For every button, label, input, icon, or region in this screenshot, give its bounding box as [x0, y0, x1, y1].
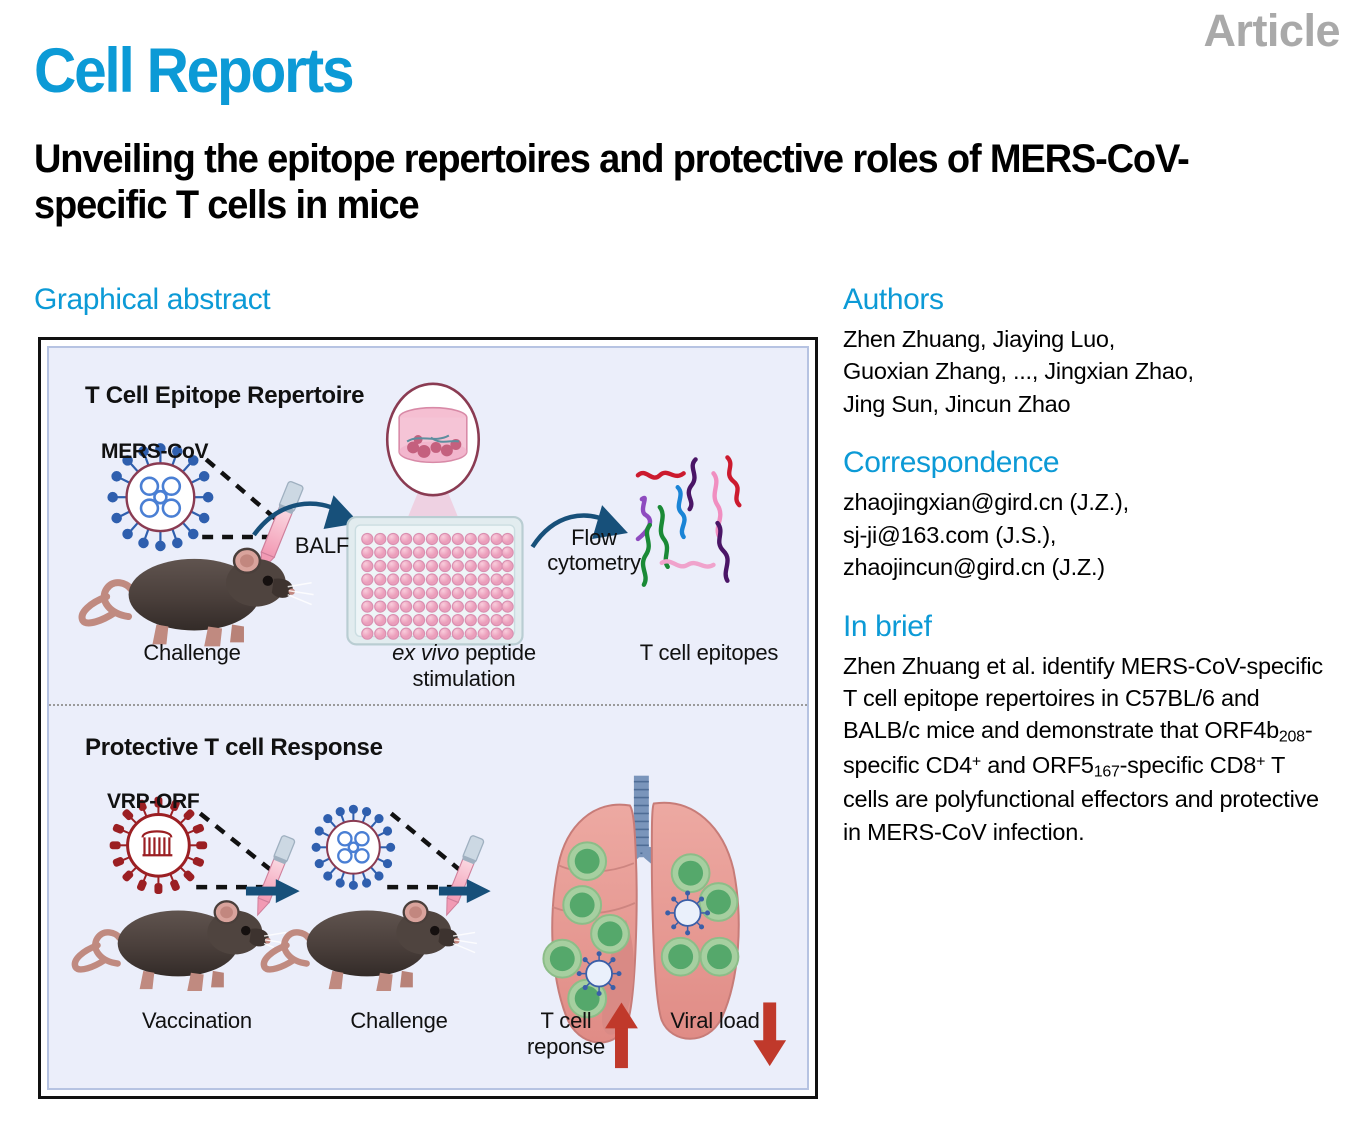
flow-line1: Flow: [571, 525, 617, 550]
pipette-icon: [440, 835, 484, 918]
journal-logo: Cell Reports: [34, 40, 352, 103]
caption-challenge-bottom: Challenge: [299, 1008, 499, 1034]
panel-divider: [49, 704, 807, 706]
mouse-icon: [82, 549, 314, 646]
caption-ex-vivo-stimulation: ex vivo peptide stimulation: [339, 640, 589, 691]
correspondence-block: Correspondence zhaojingxian@gird.cn (J.Z…: [843, 446, 1323, 583]
dashed-pointer-icon: [387, 813, 459, 887]
straight-arrow-icon: [246, 879, 300, 903]
authors-heading: Authors: [843, 283, 1323, 316]
caption-t-cell-epitopes: T cell epitopes: [604, 640, 809, 666]
caption-challenge-top: Challenge: [97, 640, 287, 666]
mouse-icon: [75, 901, 288, 991]
magnifier-callout-icon: [387, 384, 479, 519]
label-mers-cov: MERS-CoV: [101, 440, 208, 464]
graphical-abstract-canvas: T Cell Epitope Repertoire MERS-CoV BALF …: [47, 346, 809, 1090]
caption-ex-vivo-rest: peptide: [459, 640, 536, 665]
dashed-pointer-icon: [196, 813, 270, 887]
caption-ex-vivo-italic: ex vivo: [392, 640, 459, 665]
coronavirus-icon: [577, 891, 709, 995]
arrow-label-balf: BALF: [277, 534, 367, 559]
page-title: Unveiling the epitope repertoires and pr…: [34, 136, 1241, 229]
in-brief-heading: In brief: [843, 610, 1323, 643]
graphical-abstract-figure: T Cell Epitope Repertoire MERS-CoV BALF …: [38, 337, 818, 1099]
curved-arrow-icon: [254, 495, 359, 535]
t-cell-icon: [543, 842, 738, 1017]
caption-t-cell-response: T cell reponse: [511, 1008, 621, 1059]
tcell-line1: T cell: [541, 1008, 592, 1033]
96-well-plate-icon: [347, 517, 522, 644]
right-column: Authors Zhen Zhuang, Jiaying Luo, Guoxia…: [843, 283, 1323, 874]
pipette-icon: [254, 481, 304, 574]
mouse-icon: [264, 901, 477, 991]
authors-block: Authors Zhen Zhuang, Jiaying Luo, Guoxia…: [843, 283, 1323, 420]
in-brief-text: Zhen Zhuang et al. identify MERS-CoV-spe…: [843, 650, 1323, 849]
caption-viral-load: Viral load: [645, 1008, 785, 1034]
lungs-icon: [543, 776, 738, 1043]
caption-vaccination: Vaccination: [97, 1008, 297, 1034]
arrow-label-flow-cytometry: Flow cytometry: [529, 526, 659, 575]
caption-ex-vivo-line2: stimulation: [413, 666, 516, 691]
article-type-kicker: Article: [1203, 8, 1340, 53]
in-brief-block: In brief Zhen Zhuang et al. identify MER…: [843, 610, 1323, 849]
dashed-pointer-icon: [202, 459, 276, 537]
straight-arrow-icon: [439, 879, 491, 903]
correspondence-heading: Correspondence: [843, 446, 1323, 479]
graphical-abstract-heading: Graphical abstract: [34, 283, 270, 316]
panel-title-protective-response: Protective T cell Response: [85, 734, 383, 762]
correspondence-emails[interactable]: zhaojingxian@gird.cn (J.Z.), sj-ji@163.c…: [843, 486, 1323, 583]
label-vrp-orf: VRP-ORF: [107, 790, 199, 814]
panel-title-epitope-repertoire: T Cell Epitope Repertoire: [85, 382, 364, 410]
pipette-icon: [251, 835, 295, 918]
flow-line2: cytometry: [547, 550, 641, 575]
tcell-line2: reponse: [527, 1034, 605, 1059]
coronavirus-icon: [313, 806, 395, 889]
authors-list: Zhen Zhuang, Jiaying Luo, Guoxian Zhang,…: [843, 323, 1323, 420]
